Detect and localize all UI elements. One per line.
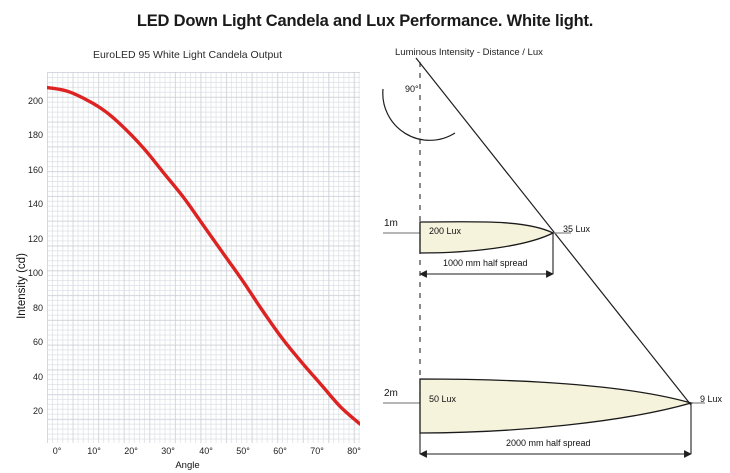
y-tick-200: 200 [5, 96, 43, 106]
spread-label-2m: 2000 mm half spread [506, 438, 591, 448]
y-tick-180: 180 [5, 130, 43, 140]
x-tick-60: 60° [260, 446, 300, 456]
edge-lux-label-2m: 9 Lux [700, 394, 722, 404]
screenshot-root: LED Down Light Candela and Lux Performan… [0, 0, 730, 473]
x-axis-label: Angle [0, 460, 375, 471]
candela-curve-svg [47, 72, 360, 443]
x-tick-10: 10° [74, 446, 114, 456]
distance-label-2m: 2m [384, 388, 398, 399]
lux-distance-diagram-panel: Luminous Intensity - Distance / Lux [375, 42, 730, 473]
edge-lux-label-1m: 35 Lux [563, 224, 590, 234]
y-tick-40: 40 [5, 372, 43, 382]
x-tick-30: 30° [148, 446, 188, 456]
x-tick-70: 70° [297, 446, 337, 456]
candela-curve [47, 88, 360, 424]
chart-plot-area [47, 72, 360, 443]
ninety-degree-arc [383, 89, 455, 140]
x-tick-0: 0° [37, 446, 77, 456]
two-meter-beam-shape [420, 379, 691, 433]
x-tick-20: 20° [111, 446, 151, 456]
chart-title: EuroLED 95 White Light Candela Output [0, 49, 375, 61]
x-tick-40: 40° [186, 446, 226, 456]
y-tick-20: 20 [5, 406, 43, 416]
lux-distance-diagram-svg [375, 42, 730, 473]
x-tick-50: 50° [223, 446, 263, 456]
center-lux-label-2m: 50 Lux [429, 394, 456, 404]
y-axis-label: Intensity (cd) [16, 201, 28, 371]
y-tick-160: 160 [5, 165, 43, 175]
page-title: LED Down Light Candela and Lux Performan… [0, 12, 730, 31]
spread-label-1m: 1000 mm half spread [443, 258, 528, 268]
distance-label-1m: 1m [384, 218, 398, 229]
angle-label-90: 90° [405, 84, 419, 94]
center-lux-label-1m: 200 Lux [429, 226, 461, 236]
x-tick-80: 80° [334, 446, 374, 456]
candela-chart-panel: EuroLED 95 White Light Candela Output 20… [0, 42, 375, 473]
